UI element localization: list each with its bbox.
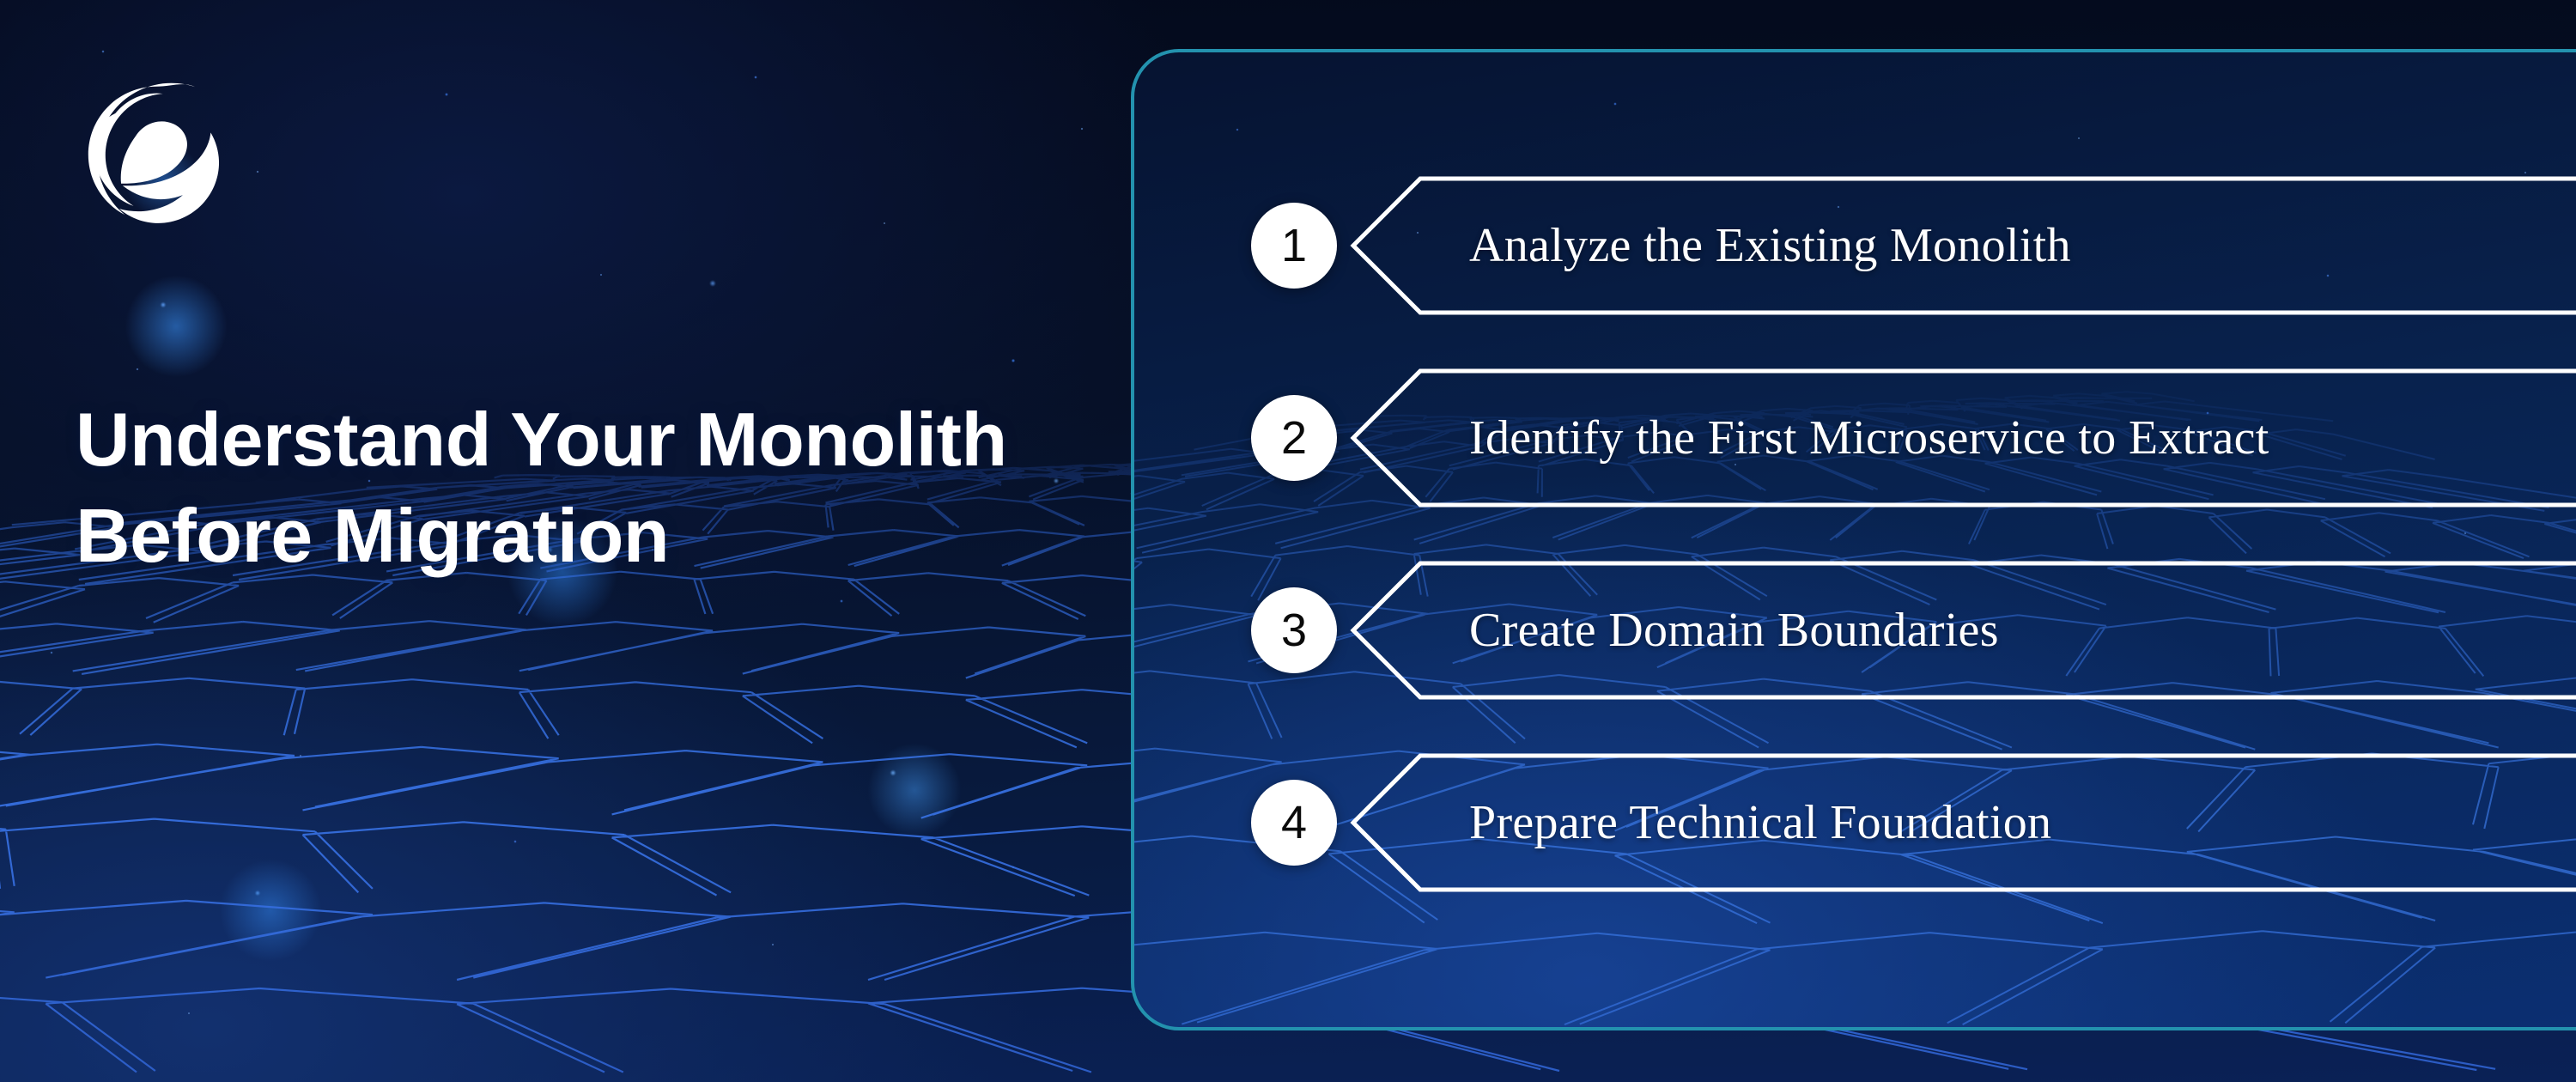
steps-list: 1 Analyze the Existing Monolith 2 Identi…	[1134, 52, 2576, 1027]
steps-panel: 1 Analyze the Existing Monolith 2 Identi…	[1131, 49, 2576, 1030]
step-row[interactable]: 4 Prepare Technical Foundation	[1134, 753, 2576, 892]
step-number-badge: 4	[1251, 780, 1337, 866]
page-title-line-1: Understand Your Monolith	[76, 392, 1089, 488]
step-number: 4	[1281, 799, 1307, 846]
page-title-line-2: Before Migration	[76, 488, 1089, 584]
page-title: Understand Your Monolith Before Migratio…	[76, 392, 1089, 584]
step-number: 3	[1281, 607, 1307, 653]
step-number-badge: 1	[1251, 203, 1337, 289]
step-row[interactable]: 3 Create Domain Boundaries	[1134, 561, 2576, 700]
step-number-badge: 3	[1251, 587, 1337, 673]
step-number: 1	[1281, 222, 1307, 269]
brand-logo	[79, 77, 234, 232]
step-number-badge: 2	[1251, 395, 1337, 481]
step-row[interactable]: 2 Identify the First Microservice to Ext…	[1134, 368, 2576, 508]
step-label: Identify the First Microservice to Extra…	[1469, 368, 2269, 508]
step-label: Analyze the Existing Monolith	[1469, 176, 2071, 315]
step-label: Prepare Technical Foundation	[1469, 753, 2051, 892]
infographic-canvas: Understand Your Monolith Before Migratio…	[0, 0, 2576, 1082]
step-label: Create Domain Boundaries	[1469, 561, 1999, 700]
step-number: 2	[1281, 415, 1307, 461]
e-globe-logo-icon	[79, 77, 234, 232]
step-row[interactable]: 1 Analyze the Existing Monolith	[1134, 176, 2576, 315]
